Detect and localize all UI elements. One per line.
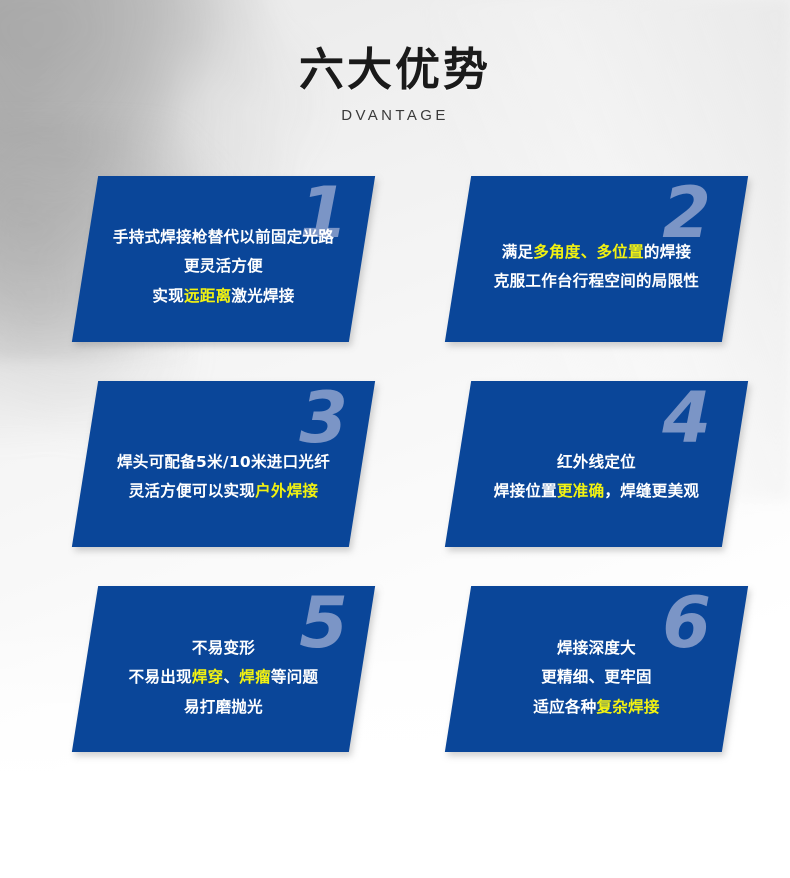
body-text: 激光焊接 (231, 287, 294, 305)
body-text: 适应各种 (533, 698, 596, 716)
highlight-text: 更准确 (557, 482, 604, 500)
body-text: 易打磨抛光 (184, 698, 263, 716)
body-text: 等问题 (271, 668, 318, 686)
card-5-line-2: 不易出现焊穿、焊瘤等问题 (91, 663, 356, 692)
card-3-line-1: 焊头可配备5米/10米进口光纤 (91, 448, 356, 477)
body-text: 焊接深度大 (557, 639, 636, 657)
card-text-3: 焊头可配备5米/10米进口光纤灵活方便可以实现户外焊接 (85, 448, 362, 507)
advantage-card-2[interactable]: 2 满足多角度、多位置的焊接克服工作台行程空间的局限性 (445, 176, 748, 342)
card-4-line-1: 红外线定位 (464, 448, 729, 477)
body-text: ，焊缝更美观 (604, 482, 699, 500)
card-text-6: 焊接深度大更精细、更牢固适应各种复杂焊接 (458, 634, 735, 722)
advantages-poster: 六大优势 DVANTAGE 1 手持式焊接枪替代以前固定光路更灵活方便实现远距离… (0, 0, 790, 878)
poster-header: 六大优势 DVANTAGE (0, 46, 790, 124)
body-text: 焊接位置 (494, 482, 557, 500)
card-6-line-3: 适应各种复杂焊接 (464, 693, 729, 722)
advantage-card-3[interactable]: 3 焊头可配备5米/10米进口光纤灵活方便可以实现户外焊接 (72, 381, 375, 547)
highlight-text: 焊瘤 (239, 668, 271, 686)
card-1-line-1: 手持式焊接枪替代以前固定光路 (91, 223, 356, 252)
body-text: 克服工作台行程空间的局限性 (494, 272, 699, 290)
card-5-line-3: 易打磨抛光 (91, 693, 356, 722)
body-text: 更精细、更牢固 (541, 668, 652, 686)
card-row-1: 1 手持式焊接枪替代以前固定光路更灵活方便实现远距离激光焊接 2 满足多角度、多… (0, 176, 790, 381)
card-3-line-2: 灵活方便可以实现户外焊接 (91, 477, 356, 506)
card-text-4: 红外线定位焊接位置更准确，焊缝更美观 (458, 448, 735, 507)
body-text: 实现 (152, 287, 184, 305)
card-6-line-2: 更精细、更牢固 (464, 663, 729, 692)
advantage-card-grid: 1 手持式焊接枪替代以前固定光路更灵活方便实现远距离激光焊接 2 满足多角度、多… (0, 176, 790, 791)
card-row-3: 5 不易变形不易出现焊穿、焊瘤等问题易打磨抛光 6 焊接深度大更精细、更牢固适应… (0, 586, 790, 791)
advantage-card-6[interactable]: 6 焊接深度大更精细、更牢固适应各种复杂焊接 (445, 586, 748, 752)
advantage-card-1[interactable]: 1 手持式焊接枪替代以前固定光路更灵活方便实现远距离激光焊接 (72, 176, 375, 342)
card-2-line-1: 满足多角度、多位置的焊接 (464, 238, 729, 267)
body-text: 焊头可配备5米/10米进口光纤 (117, 453, 330, 471)
card-number-4: 4 (662, 383, 711, 453)
advantage-card-5[interactable]: 5 不易变形不易出现焊穿、焊瘤等问题易打磨抛光 (72, 586, 375, 752)
body-text: 红外线定位 (557, 453, 636, 471)
card-row-2: 3 焊头可配备5米/10米进口光纤灵活方便可以实现户外焊接 4 红外线定位焊接位… (0, 381, 790, 586)
card-1-line-3: 实现远距离激光焊接 (91, 282, 356, 311)
card-number-3: 3 (299, 383, 348, 453)
card-4-line-2: 焊接位置更准确，焊缝更美观 (464, 477, 729, 506)
body-text: 不易出现 (129, 668, 192, 686)
highlight-text: 焊穿 (192, 668, 224, 686)
body-text: 、 (223, 668, 239, 686)
card-text-2: 满足多角度、多位置的焊接克服工作台行程空间的局限性 (458, 238, 735, 297)
card-2-line-2: 克服工作台行程空间的局限性 (464, 267, 729, 296)
highlight-text: 户外焊接 (255, 482, 318, 500)
body-text: 满足 (502, 243, 534, 261)
body-text: 手持式焊接枪替代以前固定光路 (113, 228, 334, 246)
card-text-5: 不易变形不易出现焊穿、焊瘤等问题易打磨抛光 (85, 634, 362, 722)
body-text: 更灵活方便 (184, 257, 263, 275)
card-6-line-1: 焊接深度大 (464, 634, 729, 663)
card-1-line-2: 更灵活方便 (91, 252, 356, 281)
page-subtitle: DVANTAGE (0, 107, 790, 124)
highlight-text: 复杂焊接 (597, 698, 660, 716)
body-text: 不易变形 (192, 639, 255, 657)
highlight-text: 多角度、多位置 (533, 243, 644, 261)
body-text: 灵活方便可以实现 (129, 482, 255, 500)
page-title: 六大优势 (0, 46, 790, 93)
card-text-1: 手持式焊接枪替代以前固定光路更灵活方便实现远距离激光焊接 (85, 223, 362, 311)
highlight-text: 远距离 (184, 287, 231, 305)
card-5-line-1: 不易变形 (91, 634, 356, 663)
body-text: 的焊接 (644, 243, 691, 261)
advantage-card-4[interactable]: 4 红外线定位焊接位置更准确，焊缝更美观 (445, 381, 748, 547)
